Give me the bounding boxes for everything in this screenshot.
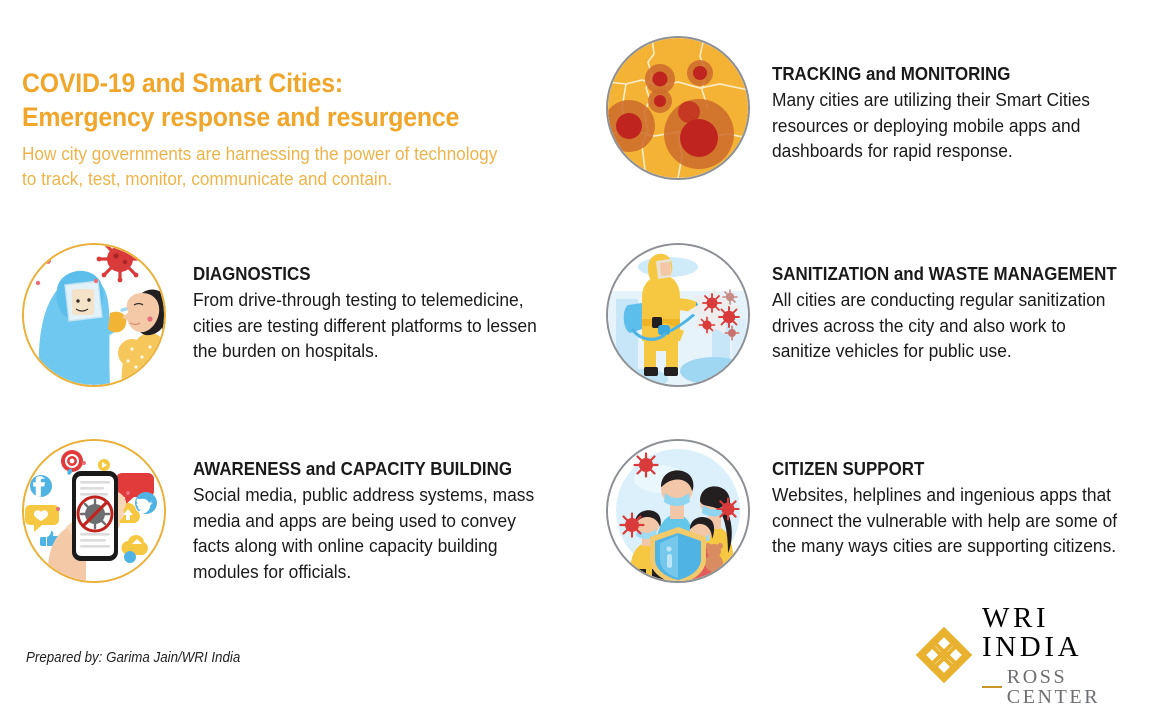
item-body: Social media, public address systems, ma… [193,482,560,584]
item-heading: DIAGNOSTICS [193,264,560,285]
item-body-line: resources or deploying mobile apps and [772,113,1129,139]
item-heading: CITIZEN SUPPORT [772,459,1139,480]
poster-header: COVID-19 and Smart Cities: Emergency res… [22,66,582,192]
wri-india-ross-center-logo: WRI INDIA ROSS CENTER [916,624,1152,686]
swab-testing-icon [22,243,166,387]
prepared-by-credit: Prepared by: Garima Jain/WRI India [26,650,240,666]
logo-dash-rule [982,686,1002,688]
item-body-line: the many ways cities are supporting citi… [772,533,1139,559]
logo-primary-text: WRI INDIA [982,604,1152,662]
item-heading: TRACKING and MONITORING [772,64,1129,85]
item-body-line: media and apps are being used to convey [193,508,560,534]
hazmat-sprayer-icon [606,243,750,387]
logo-secondary-text: ROSS CENTER [1007,667,1152,707]
logo-text-block: WRI INDIA ROSS CENTER [982,604,1152,707]
wri-knot-logo-icon [916,627,972,683]
item-diagnostics: DIAGNOSTICS From drive-through testing t… [193,264,583,364]
item-body-line: dashboards for rapid response. [772,138,1129,164]
item-awareness-and-capacity-building: AWARENESS and CAPACITY BUILDING Social m… [193,459,583,584]
page-title-line-2: Emergency response and resurgence [22,100,537,134]
item-body-line: the burden on hospitals. [193,338,560,364]
item-body-line: connect the vulnerable with help are som… [772,508,1139,534]
item-body: From drive-through testing to telemedici… [193,287,560,364]
item-tracking-and-monitoring: TRACKING and MONITORING Many cities are … [772,64,1152,164]
item-body-line: cities are testing different platforms t… [193,313,560,339]
item-body-line: modules for officials. [193,559,560,585]
item-body: Websites, helplines and ingenious apps t… [772,482,1139,559]
item-body: Many cities are utilizing their Smart Ci… [772,87,1129,164]
item-body-line: sanitize vehicles for public use. [772,338,1139,364]
item-body-line: Many cities are utilizing their Smart Ci… [772,87,1129,113]
page-subtitle: How city governments are harnessing the … [22,142,543,192]
smartphone-social-media-icon [22,439,166,583]
item-body-line: From drive-through testing to telemedici… [193,287,560,313]
page-subtitle-line-1: How city governments are harnessing the … [22,142,543,167]
page-subtitle-line-2: to track, test, monitor, communicate and… [22,167,543,192]
page-title-line-1: COVID-19 and Smart Cities: [22,66,537,100]
item-body-line: Websites, helplines and ingenious apps t… [772,482,1139,508]
map-hotspots-icon [606,36,750,180]
item-body-line: Social media, public address systems, ma… [193,482,560,508]
item-sanitization-and-waste-management: SANITIZATION and WASTE MANAGEMENT All ci… [772,264,1162,364]
item-heading: SANITIZATION and WASTE MANAGEMENT [772,264,1139,285]
item-body: All cities are conducting regular saniti… [772,287,1139,364]
item-body-line: All cities are conducting regular saniti… [772,287,1139,313]
item-body-line: facts along with online capacity buildin… [193,533,560,559]
item-body-line: drives across the city and also work to [772,313,1139,339]
infographic-poster: COVID-19 and Smart Cities: Emergency res… [0,0,1170,711]
item-heading: AWARENESS and CAPACITY BUILDING [193,459,560,480]
item-citizen-support: CITIZEN SUPPORT Websites, helplines and … [772,459,1162,559]
logo-secondary-row: ROSS CENTER [982,667,1152,707]
family-shield-icon [606,439,750,583]
